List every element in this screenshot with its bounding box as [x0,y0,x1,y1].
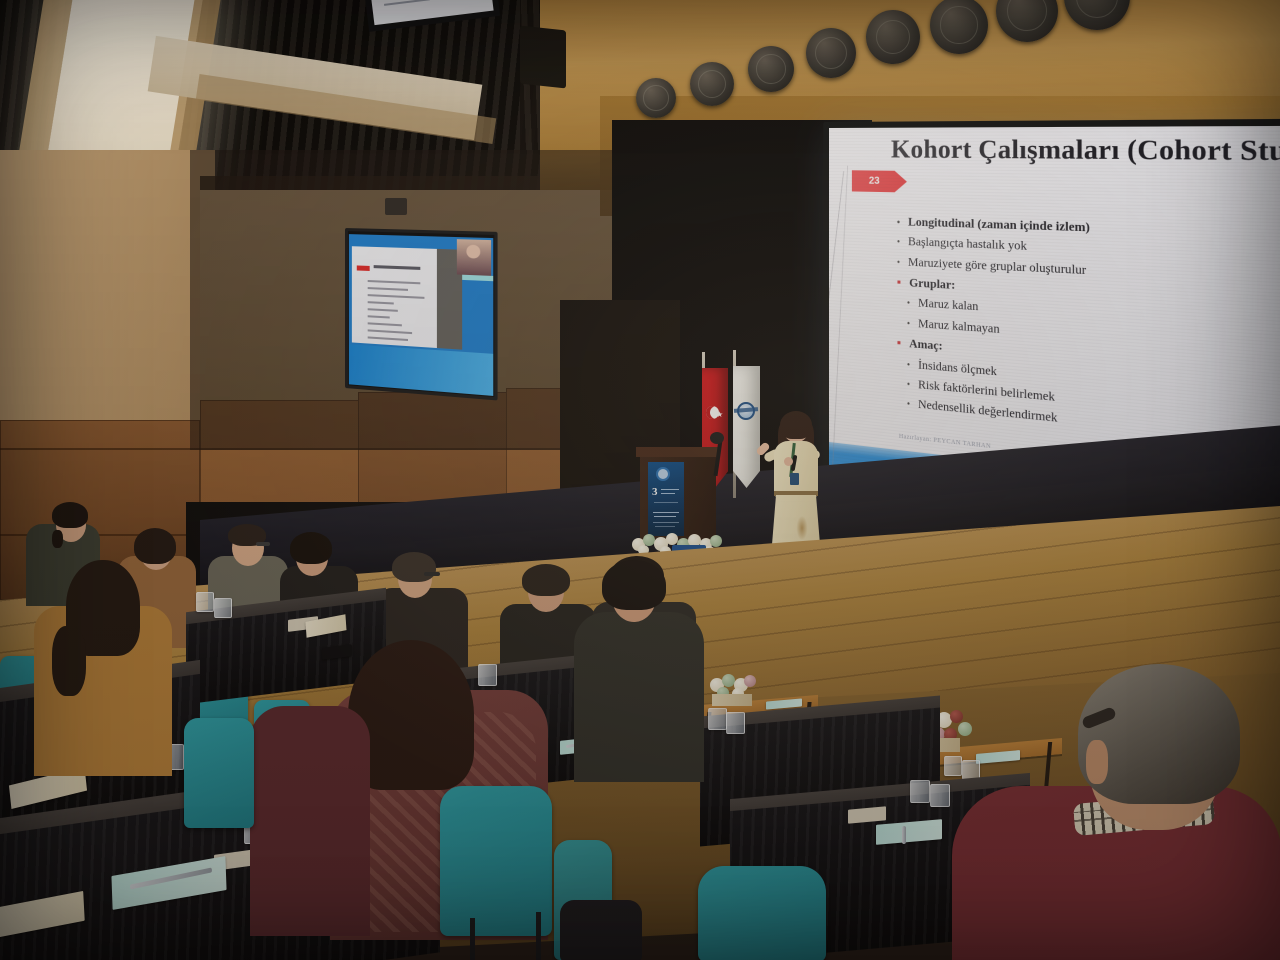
person-hair [602,560,666,610]
water-glass [930,784,950,807]
person-hair [522,564,570,596]
monitor-screen [349,234,493,396]
ceiling-projector [520,26,566,89]
water-glass [726,712,745,734]
chair-leg [536,912,541,960]
wall-plaque [866,10,920,64]
person-hair-side [52,530,63,548]
star-icon: ★ [716,411,723,419]
person-ear [1086,740,1108,784]
wall-panel-upper-left [0,150,215,450]
monitor-camera-feed [457,239,491,276]
flower-vase [712,694,752,706]
wall-plaque [636,78,676,118]
eyeglasses-icon [256,542,270,546]
person-hair [134,528,176,564]
wall-plaque [748,46,794,92]
eyeglasses-icon [424,572,440,576]
wall-speaker [385,198,407,215]
presenter-hand [784,457,793,466]
audience-person [574,612,704,782]
water-glass [196,592,214,612]
person-hair [52,502,88,528]
podium-logo-icon [656,467,670,481]
water-glass [708,708,727,730]
water-glass [910,780,930,803]
institution-flag [733,366,760,488]
podium-banner-number: 3 [652,486,658,498]
audience-person [250,706,370,936]
monitor-slide-title-line [374,265,421,270]
chair-leg [470,918,475,960]
water-glass [944,756,962,776]
podium-banner: 3 [648,462,684,536]
wall-plaque [690,62,734,106]
microphone-icon [710,432,724,444]
person-hair [392,552,436,582]
chair[interactable] [184,718,254,828]
presenter-hair [780,411,812,439]
confidence-monitor [345,228,498,401]
monitor-accent-strip [462,275,493,282]
water-glass [478,664,497,686]
monitor-slide-badge [357,265,370,271]
chair[interactable] [698,866,826,960]
pen [902,826,906,844]
backpack [560,900,642,960]
conference-hall-photo: 23 Kohort Çalışmaları (Cohort Studies) •… [0,0,1280,960]
water-glass [214,598,232,618]
podium-top [636,447,720,457]
person-hair [290,532,332,564]
monitor-slide-thumbnail [352,246,437,348]
presenter-dress-motif [796,515,808,541]
person-hair-side [52,626,86,696]
wall-plaque [806,28,856,78]
presenter-badge [790,473,799,485]
person-hair [1078,664,1240,804]
